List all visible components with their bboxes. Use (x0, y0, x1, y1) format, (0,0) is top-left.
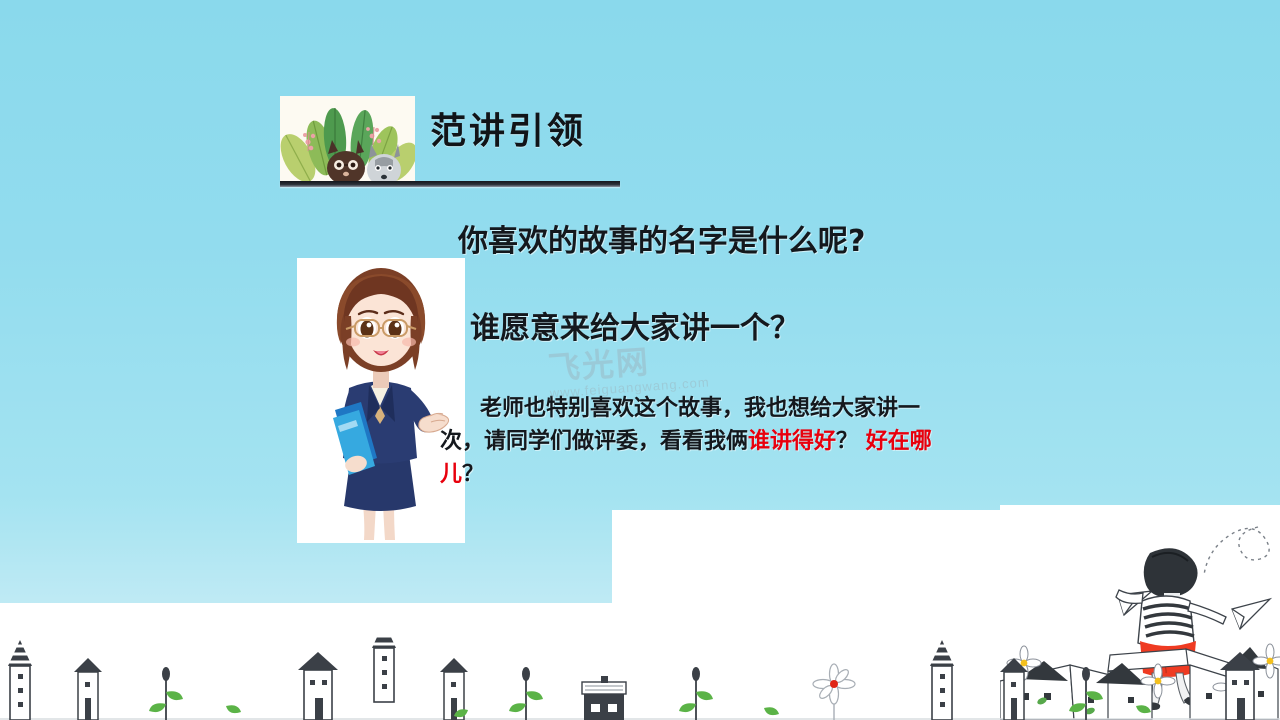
tropical-leaves-pets-icon (280, 96, 415, 186)
question-line-1: 你喜欢的故事的名字是什么呢? (458, 216, 865, 260)
section-title-block: 范讲引领 (280, 96, 625, 192)
slide-canvas: 范讲引领 (0, 0, 1280, 720)
title-underline-rule (280, 181, 620, 187)
teacher-instruction-paragraph: 老师也特别喜欢这个故事，我也想给大家讲一次，请同学们做评委，看看我俩谁讲得好？ … (440, 392, 940, 491)
paragraph-tail: ？ (462, 462, 484, 487)
paragraph-mid: ？ (836, 429, 866, 454)
sketched-houses-border (0, 636, 1280, 720)
page-title: 范讲引领 (430, 102, 586, 154)
paragraph-highlight-1: 谁讲得好 (748, 429, 836, 454)
question-line-2: 谁愿意来给大家讲一个？ (470, 303, 800, 347)
